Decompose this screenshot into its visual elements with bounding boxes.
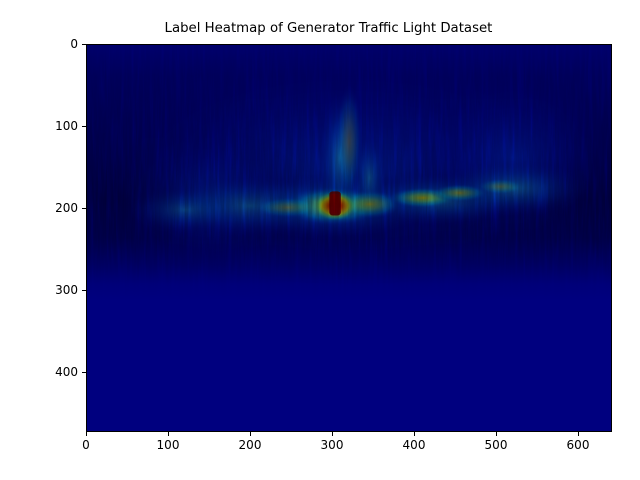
y-tick-label-400: 400: [55, 365, 78, 379]
x-tick-500: [496, 432, 497, 436]
x-tick-label-300: 300: [321, 438, 344, 452]
heatmap-axes: [86, 44, 612, 432]
x-tick-400: [414, 432, 415, 436]
heatmap-image: [87, 45, 611, 431]
x-tick-600: [578, 432, 579, 436]
x-tick-label-200: 200: [239, 438, 262, 452]
x-tick-200: [250, 432, 251, 436]
x-tick-label-0: 0: [82, 438, 90, 452]
y-tick-0: [82, 44, 86, 45]
y-tick-300: [82, 290, 86, 291]
y-tick-400: [82, 372, 86, 373]
x-tick-100: [168, 432, 169, 436]
chart-title-line-1: Label Heatmap of Generator Traffic Light…: [165, 21, 493, 36]
y-tick-label-300: 300: [55, 283, 78, 297]
x-tick-label-500: 500: [485, 438, 508, 452]
x-tick-label-600: 600: [567, 438, 590, 452]
y-tick-label-200: 200: [55, 201, 78, 215]
y-tick-label-100: 100: [55, 119, 78, 133]
x-tick-label-100: 100: [157, 438, 180, 452]
y-tick-label-0: 0: [70, 37, 78, 51]
x-tick-label-400: 400: [403, 438, 426, 452]
y-tick-100: [82, 126, 86, 127]
x-tick-300: [332, 432, 333, 436]
y-tick-200: [82, 208, 86, 209]
matplotlib-figure: Label Heatmap of Generator Traffic Light…: [0, 0, 640, 480]
x-tick-0: [86, 432, 87, 436]
